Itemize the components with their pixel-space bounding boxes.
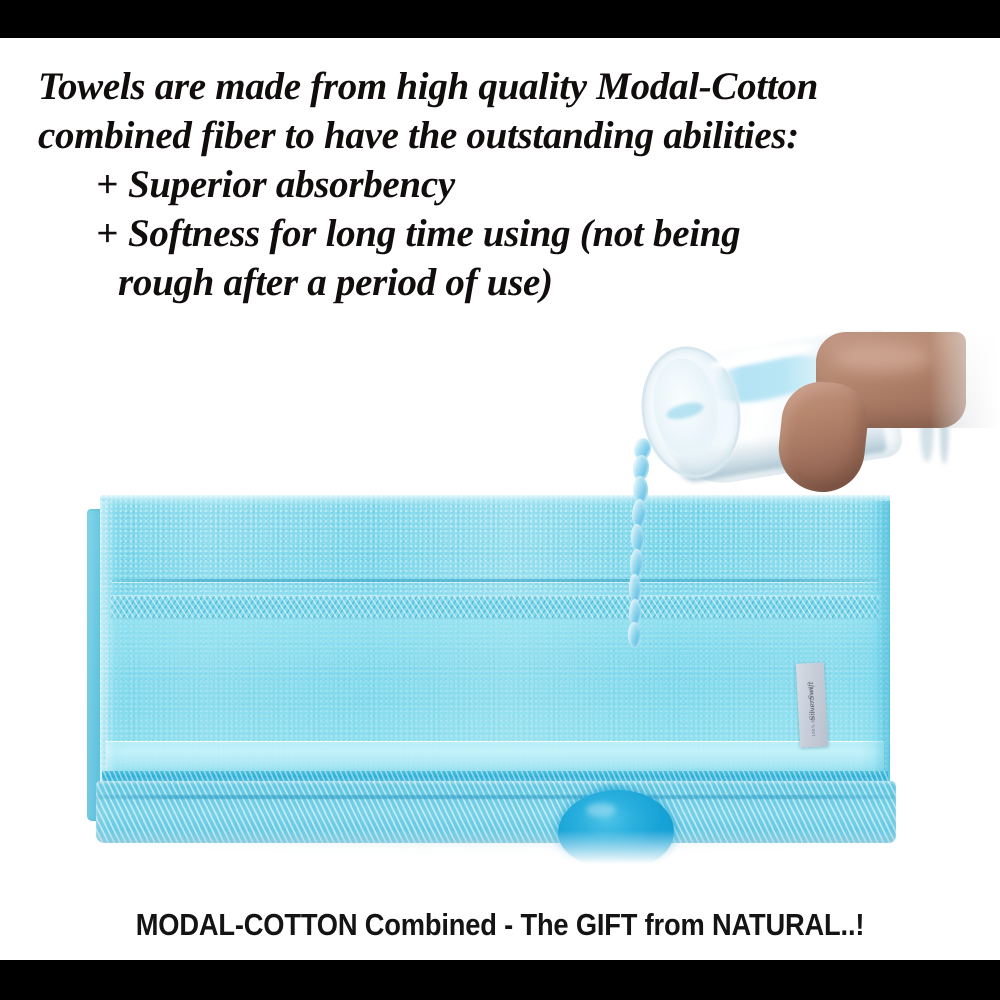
letterbox-bar-bottom [0,960,1000,1000]
water-puddle [558,790,674,870]
towel-satin-band [106,741,884,771]
headline-line-3: +Superior absorbency [38,160,976,209]
towel-fold-crease [96,795,896,799]
towel-right-selvage [860,501,890,791]
headline-line-4-text: Softness for long time using (not being [128,212,740,255]
stream-segment [628,622,641,648]
folded-towel: SilverSwift 100% MODAL COTTON [100,495,890,835]
headline-block: Towels are made from high quality Modal-… [0,62,1000,307]
headline-line-5: rough after a period of use) [38,258,976,307]
towel-body [100,495,890,795]
product-infographic-image: Towels are made from high quality Modal-… [0,0,1000,1000]
hand-highlight [834,344,930,372]
glass-and-hand [620,330,1000,530]
towel-blue-ridge [102,771,888,781]
water-puddle-highlight [586,803,616,817]
plus-bullet-icon: + [96,160,118,209]
product-photo: SilverSwift 100% MODAL COTTON [0,330,1000,870]
towel-dobby-border-band [110,595,880,619]
plus-bullet-icon-2: + [96,209,118,258]
towel-left-selvage [100,501,126,791]
headline-line-3-text: Superior absorbency [128,163,455,206]
towel-weave-panel [110,619,880,741]
towel-bottom-fold-twill [96,781,896,843]
letterbox-bar-top [0,0,1000,38]
towel-upper-seam [112,579,878,582]
headline-line-4: +Softness for long time using (not being [38,209,976,258]
bottom-caption: MODAL-COTTON Combined - The GIFT from NA… [60,908,940,942]
towel-care-label: SilverSwift 100% MODAL COTTON [796,662,828,747]
headline-line-2: combined fiber to have the outstanding a… [38,111,976,160]
headline-line-1: Towels are made from high quality Modal-… [38,62,976,111]
